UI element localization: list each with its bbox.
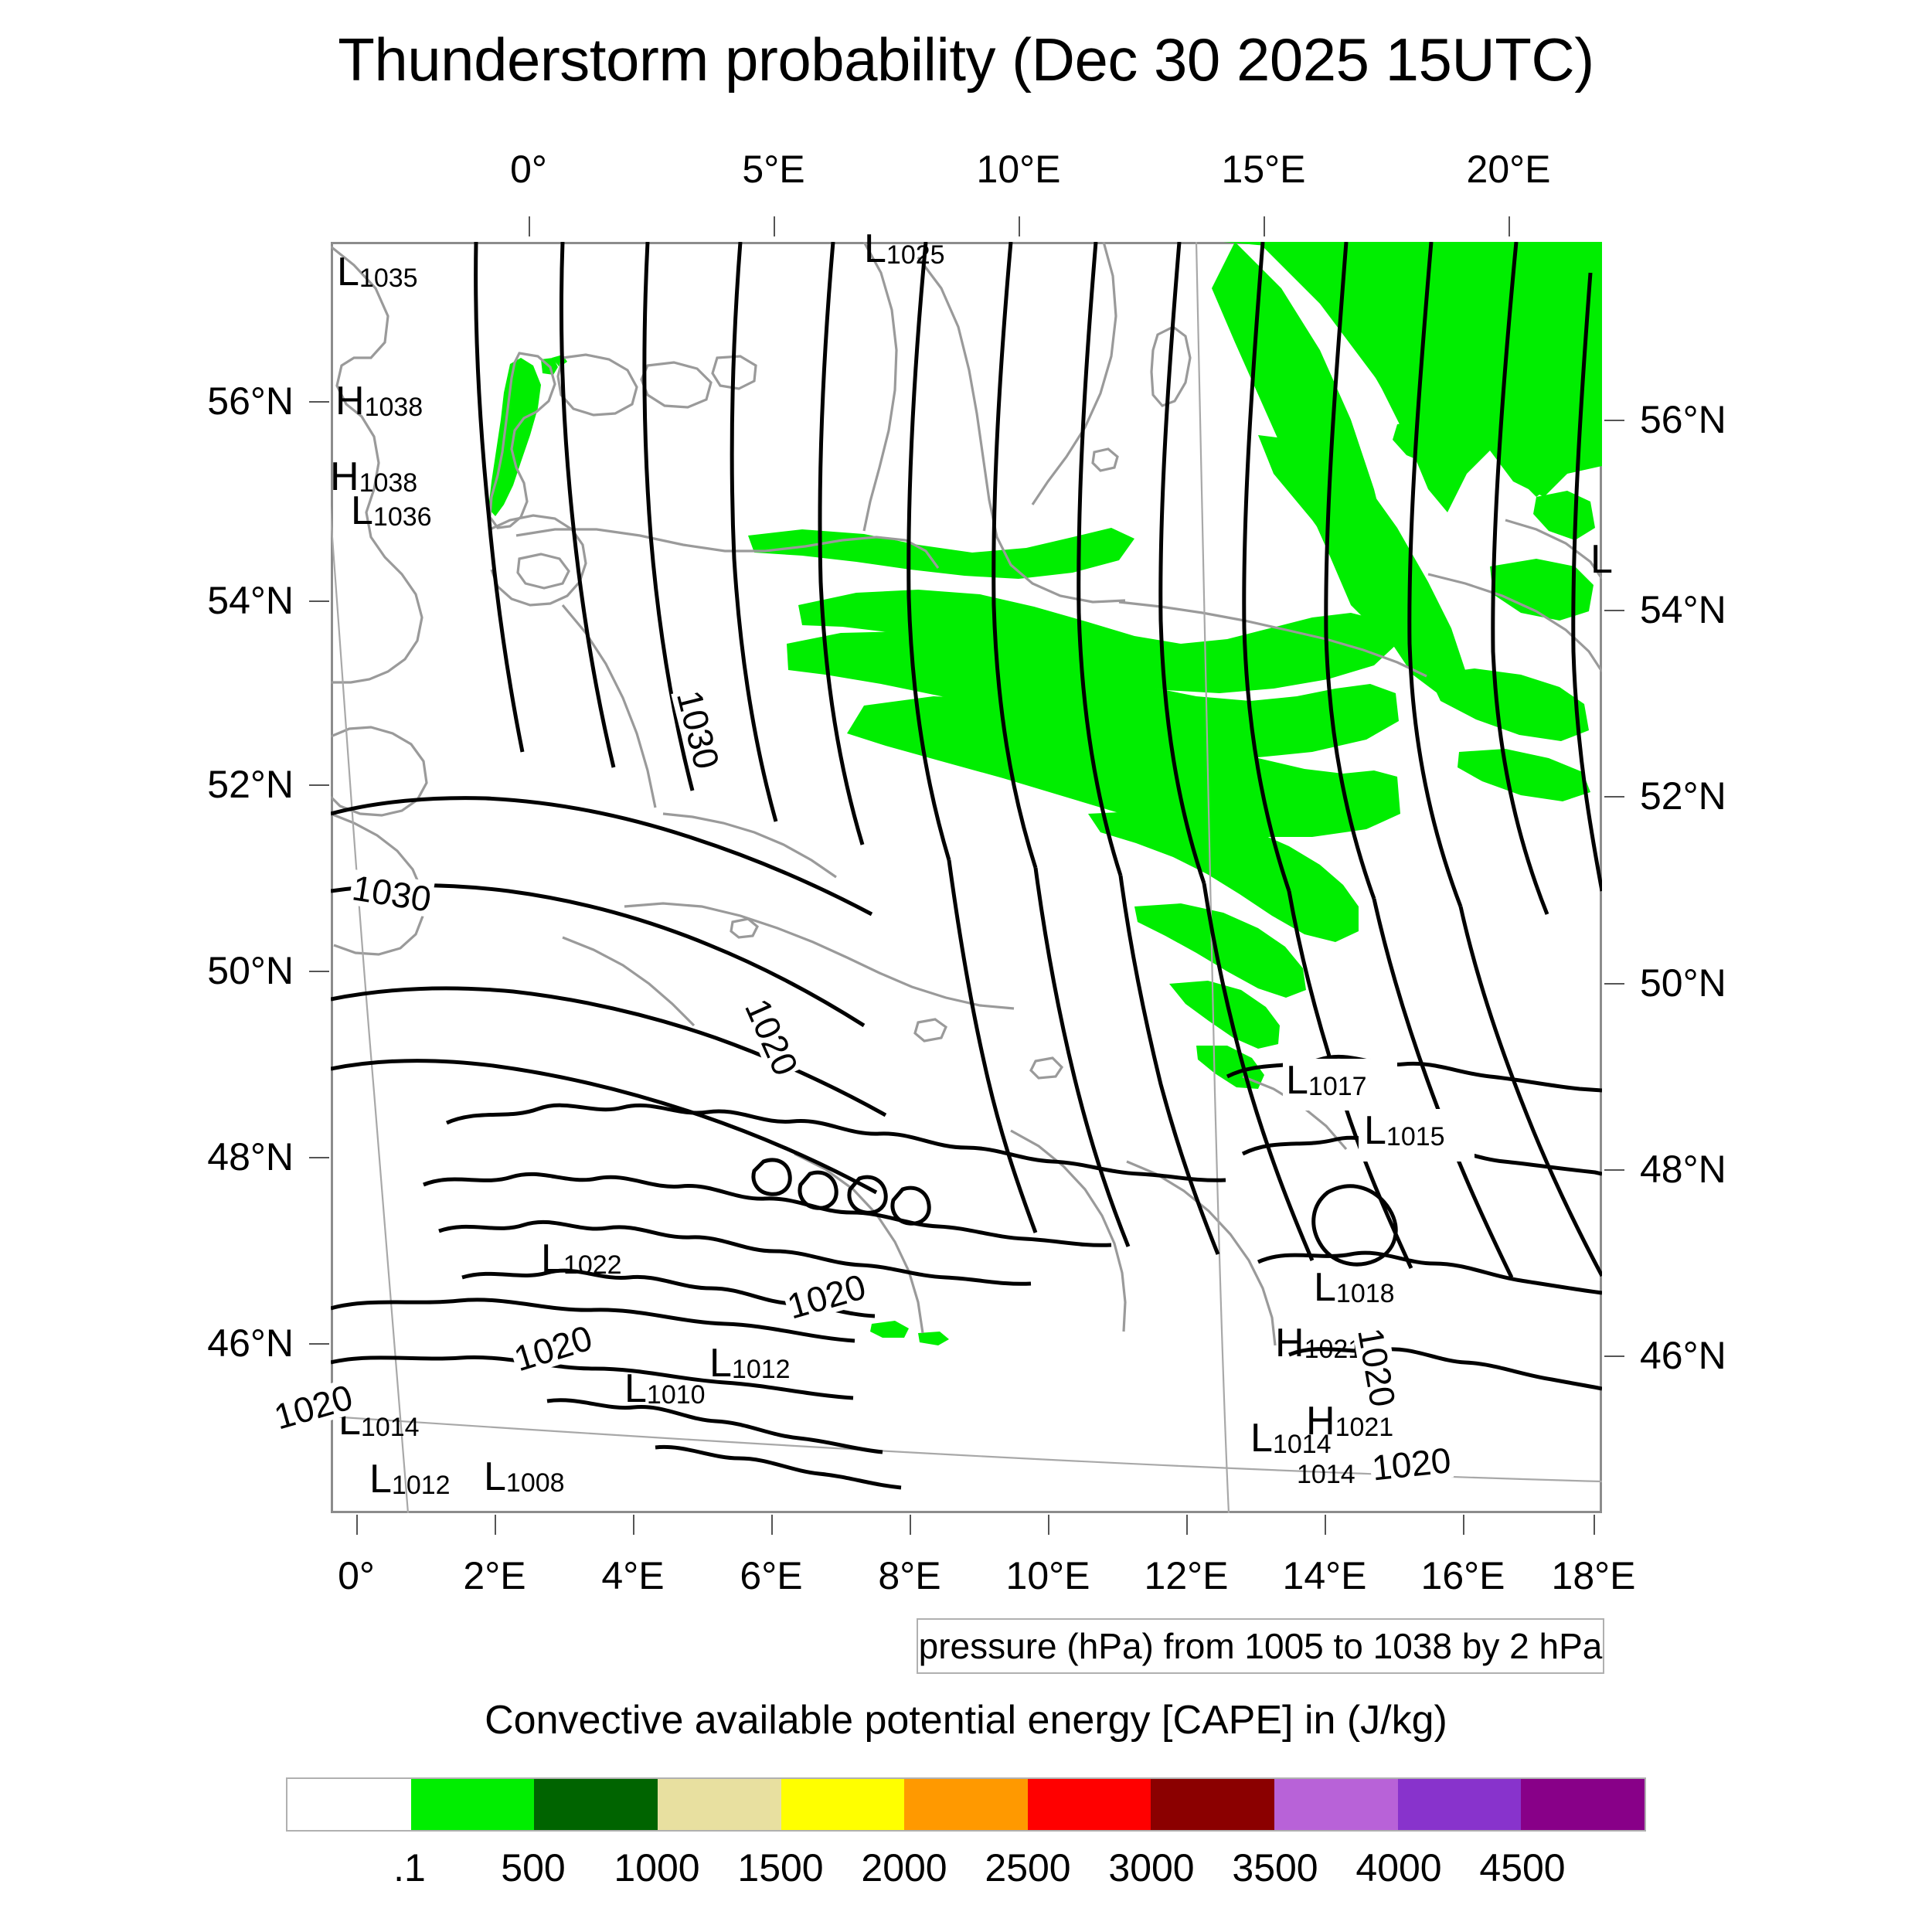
- colorbar-segment-7[interactable]: [1151, 1779, 1274, 1830]
- tick-left-0: [309, 401, 329, 403]
- colorbar-segment-0[interactable]: [287, 1779, 411, 1830]
- axis-left-label-1: 54°N: [207, 578, 294, 623]
- tick-bot-6: [1186, 1515, 1188, 1535]
- tick-left-2: [309, 784, 329, 786]
- weather-map[interactable]: L1035 H1038 H1038 L1036 L1025 L1017 L101…: [331, 242, 1602, 1513]
- axis-top-label-3: 15°E: [1222, 147, 1306, 192]
- cape-colorbar-ticks: .150010001500200025003000350040004500: [286, 1845, 1646, 1900]
- tick-top-1: [774, 216, 775, 236]
- pressure-center-L-1022: L1022: [541, 1239, 622, 1279]
- cape-colorbar-caption: Convective available potential energy [C…: [0, 1697, 1932, 1743]
- colorbar-tick-4: 2000: [861, 1845, 947, 1890]
- colorbar-segment-3[interactable]: [658, 1779, 781, 1830]
- tick-left-4: [309, 1157, 329, 1158]
- pressure-center-H-1038-a: H1038: [335, 381, 423, 421]
- axis-right-label-0: 56°N: [1640, 397, 1726, 442]
- pressure-center-L-1014-c: 1014: [1297, 1461, 1355, 1488]
- tick-bot-9: [1594, 1515, 1595, 1535]
- axis-bottom-label-5: 10°E: [1006, 1553, 1090, 1598]
- pressure-center-L-1025: L1025: [864, 229, 945, 269]
- tick-right-5: [1604, 1355, 1624, 1357]
- tick-right-1: [1604, 610, 1624, 611]
- tick-bot-0: [356, 1515, 358, 1535]
- tick-left-1: [309, 600, 329, 602]
- axis-bottom-label-9: 18°E: [1552, 1553, 1636, 1598]
- tick-top-0: [529, 216, 530, 236]
- colorbar-segment-6[interactable]: [1028, 1779, 1151, 1830]
- colorbar-tick-3: 1500: [737, 1845, 823, 1890]
- colorbar-segment-1[interactable]: [411, 1779, 535, 1830]
- axis-right-label-2: 52°N: [1640, 774, 1726, 818]
- pressure-center-H-1021-a: H1021: [1275, 1323, 1362, 1363]
- colorbar-tick-5: 2500: [985, 1845, 1070, 1890]
- cape-colorbar[interactable]: [286, 1777, 1646, 1832]
- axis-top-label-1: 5°E: [742, 147, 804, 192]
- colorbar-tick-9: 4500: [1479, 1845, 1565, 1890]
- axis-bottom-label-6: 12°E: [1145, 1553, 1229, 1598]
- cape-shading-layer: [488, 242, 1602, 1345]
- contour-label-1020-f: 1020: [1369, 1442, 1454, 1486]
- tick-bot-4: [910, 1515, 911, 1535]
- colorbar-tick-2: 1000: [614, 1845, 699, 1890]
- axis-right-label-4: 48°N: [1640, 1147, 1726, 1192]
- axis-left-label-3: 50°N: [207, 948, 294, 993]
- colorbar-tick-7: 3500: [1232, 1845, 1318, 1890]
- axis-bottom-label-7: 14°E: [1283, 1553, 1367, 1598]
- colorbar-tick-6: 3000: [1108, 1845, 1194, 1890]
- pressure-center-L-1012-a: L1012: [709, 1343, 791, 1383]
- axis-left-label-2: 52°N: [207, 762, 294, 807]
- tick-top-3: [1264, 216, 1265, 236]
- pressure-center-L-1017: L1017: [1283, 1059, 1370, 1102]
- axis-bottom-label-2: 4°E: [601, 1553, 664, 1598]
- colorbar-tick-0: .1: [393, 1845, 426, 1890]
- pressure-center-L-1018: L1018: [1314, 1267, 1395, 1308]
- tick-top-2: [1019, 216, 1020, 236]
- tick-left-3: [309, 971, 329, 972]
- axis-top-label-2: 10°E: [977, 147, 1061, 192]
- colorbar-segment-10[interactable]: [1521, 1779, 1645, 1830]
- colorbar-tick-1: 500: [501, 1845, 565, 1890]
- tick-top-4: [1509, 216, 1510, 236]
- tick-right-0: [1604, 420, 1624, 421]
- axis-bottom-label-4: 8°E: [878, 1553, 940, 1598]
- pressure-center-L-1010-a: L1010: [624, 1369, 706, 1409]
- tick-bot-2: [633, 1515, 634, 1535]
- tick-left-5: [309, 1343, 329, 1345]
- pressure-center-L-1008: L1008: [484, 1457, 565, 1497]
- pressure-center-L-1035: L1035: [337, 252, 418, 292]
- pressure-center-L-1015: L1015: [1361, 1109, 1448, 1152]
- tick-bot-8: [1463, 1515, 1464, 1535]
- tick-bot-1: [495, 1515, 496, 1535]
- tick-bot-3: [771, 1515, 773, 1535]
- map-canvas: [331, 242, 1602, 1513]
- pressure-legend-caption: pressure (hPa) from 1005 to 1038 by 2 hP…: [917, 1618, 1604, 1674]
- axis-left-label-5: 46°N: [207, 1321, 294, 1366]
- axis-left-label-4: 48°N: [207, 1134, 294, 1179]
- colorbar-tick-8: 4000: [1355, 1845, 1441, 1890]
- colorbar-segment-2[interactable]: [534, 1779, 658, 1830]
- colorbar-segment-9[interactable]: [1398, 1779, 1522, 1830]
- axis-bottom-label-1: 2°E: [463, 1553, 526, 1598]
- tick-right-2: [1604, 796, 1624, 798]
- axis-right-label-5: 46°N: [1640, 1333, 1726, 1378]
- tick-bot-5: [1048, 1515, 1049, 1535]
- axis-bottom-label-0: 0°: [338, 1553, 375, 1598]
- pressure-center-L-edge: L: [1590, 539, 1613, 580]
- page-title: Thunderstorm probability (Dec 30 2025 15…: [0, 25, 1932, 95]
- colorbar-segment-4[interactable]: [781, 1779, 905, 1830]
- axis-left-label-0: 56°N: [207, 379, 294, 423]
- axis-bottom-label-8: 16°E: [1421, 1553, 1505, 1598]
- pressure-center-L-1036: L1036: [351, 491, 432, 531]
- axis-bottom-label-3: 6°E: [740, 1553, 802, 1598]
- axis-top-label-0: 0°: [510, 147, 547, 192]
- colorbar-segment-5[interactable]: [904, 1779, 1028, 1830]
- pressure-legend-text: pressure (hPa) from 1005 to 1038 by 2 hP…: [919, 1625, 1603, 1667]
- colorbar-segment-8[interactable]: [1274, 1779, 1398, 1830]
- axis-right-label-1: 54°N: [1640, 587, 1726, 632]
- tick-bot-7: [1325, 1515, 1326, 1535]
- axis-right-label-3: 50°N: [1640, 961, 1726, 1005]
- tick-right-4: [1604, 1169, 1624, 1171]
- axis-top-label-4: 20°E: [1467, 147, 1551, 192]
- pressure-center-L-1014-b: L1014: [1250, 1418, 1332, 1458]
- tick-right-3: [1604, 983, 1624, 985]
- pressure-center-L-1012-b: L1012: [369, 1459, 451, 1499]
